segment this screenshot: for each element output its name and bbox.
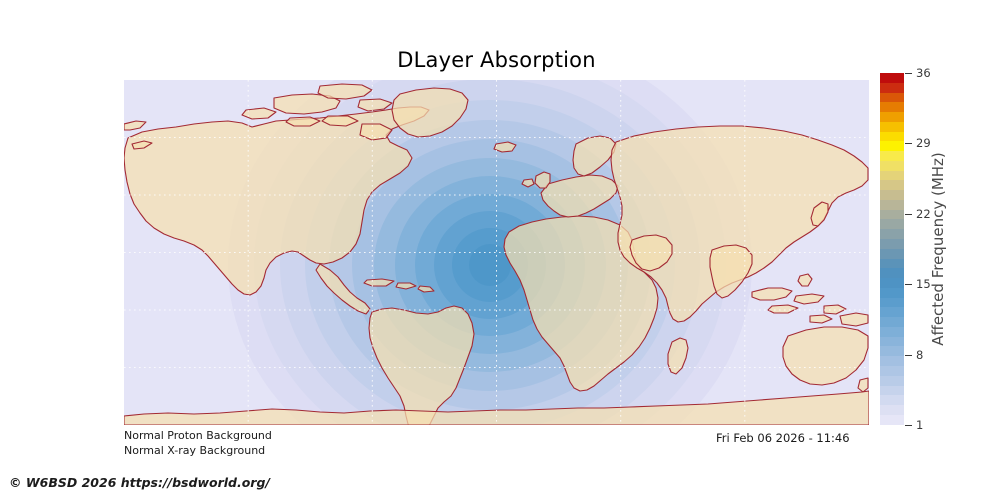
colorbar-tick [905, 143, 912, 144]
colorbar-band [880, 190, 904, 200]
colorbar-band [880, 288, 904, 298]
colorbar-band [880, 298, 904, 308]
map-panel[interactable] [124, 80, 869, 425]
colorbar-band [880, 366, 904, 376]
colorbar-band [880, 239, 904, 249]
colorbar-tick [905, 284, 912, 285]
colorbar-band [880, 219, 904, 229]
colorbar-band [880, 141, 904, 151]
colorbar-band [880, 386, 904, 396]
colorbar-tick-label: 8 [916, 348, 923, 362]
colorbar-band [880, 376, 904, 386]
colorbar-band [880, 317, 904, 327]
colorbar-band [880, 83, 904, 93]
colorbar-tick-label: 1 [916, 418, 923, 432]
colorbar-band [880, 259, 904, 269]
colorbar-gradient [880, 73, 904, 425]
proton-background-label: Normal Proton Background [124, 429, 272, 442]
colorbar-band [880, 395, 904, 405]
colorbar-band [880, 229, 904, 239]
colorbar-band [880, 180, 904, 190]
colorbar-band [880, 405, 904, 415]
colorbar-tick [905, 214, 912, 215]
colorbar-tick [905, 425, 912, 426]
colorbar-band [880, 171, 904, 181]
colorbar-tick [905, 73, 912, 74]
colorbar-band [880, 73, 904, 83]
colorbar-band [880, 268, 904, 278]
colorbar-band [880, 307, 904, 317]
colorbar[interactable]: 1815222936 Max [880, 73, 904, 425]
colorbar-band [880, 93, 904, 103]
colorbar-band [880, 356, 904, 366]
colorbar-band [880, 249, 904, 259]
page-title: DLayer Absorption [124, 48, 869, 72]
colorbar-axis-label: Affected Frequency (MHz) [927, 73, 949, 425]
colorbar-band [880, 346, 904, 356]
colorbar-band [880, 327, 904, 337]
colorbar-band [880, 415, 904, 425]
colorbar-band [880, 210, 904, 220]
colorbar-band [880, 112, 904, 122]
colorbar-band [880, 122, 904, 132]
xray-background-label: Normal X-ray Background [124, 444, 265, 457]
colorbar-band [880, 200, 904, 210]
timestamp-label: Fri Feb 06 2026 - 11:46 [716, 431, 850, 445]
colorbar-band [880, 278, 904, 288]
copyright-label: © W6BSD 2026 https://bsdworld.org/ [9, 475, 270, 490]
world-map [124, 80, 869, 425]
colorbar-axis-label-text: Affected Frequency (MHz) [929, 152, 947, 346]
colorbar-tick [905, 355, 912, 356]
colorbar-band [880, 337, 904, 347]
colorbar-band [880, 102, 904, 112]
colorbar-band [880, 132, 904, 142]
colorbar-band [880, 161, 904, 171]
colorbar-band [880, 151, 904, 161]
